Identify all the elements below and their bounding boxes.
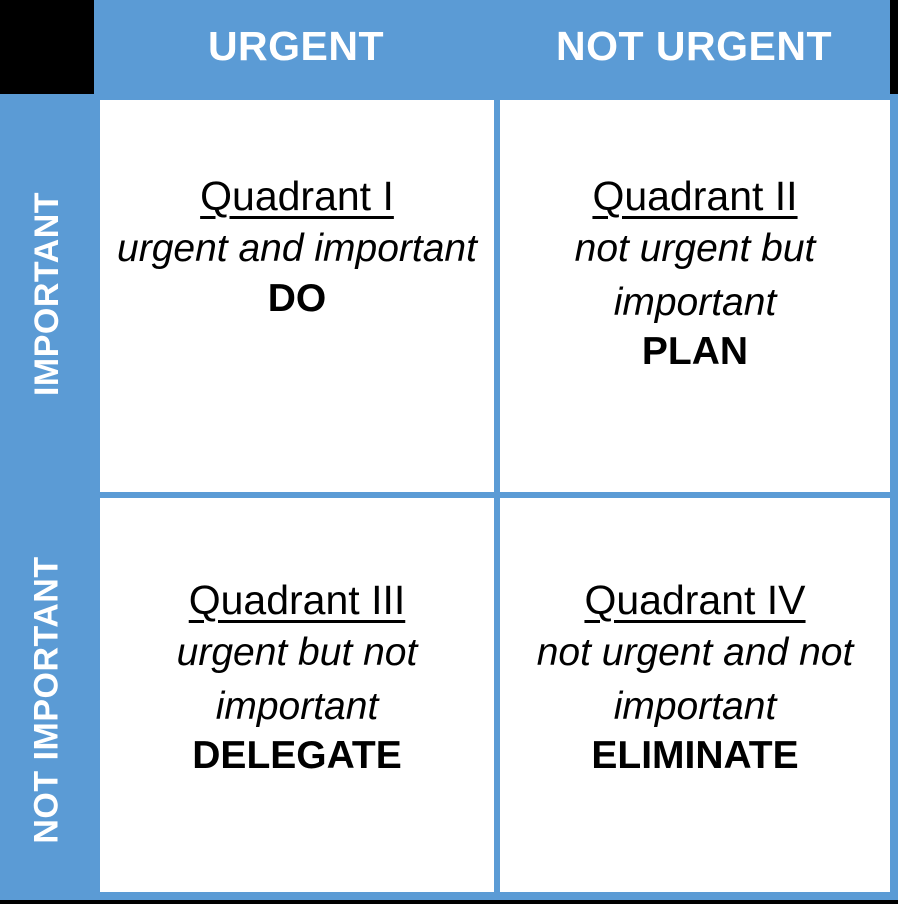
header-right-edge <box>890 0 898 94</box>
quadrant-4-description: not urgent and not important <box>510 626 881 732</box>
column-header-row: URGENT NOT URGENT <box>94 0 890 94</box>
corner-block <box>0 0 94 94</box>
quadrant-3-description: urgent but not important <box>110 626 484 732</box>
quadrant-2-description: not urgent but important <box>510 222 881 328</box>
quadrant-grid: Quadrant I urgent and important DO Quadr… <box>94 94 898 900</box>
quadrant-3-action: DELEGATE <box>192 733 401 780</box>
column-header-urgent-label: URGENT <box>208 26 384 67</box>
quadrant-3-cell[interactable]: Quadrant III urgent but not important DE… <box>100 498 494 894</box>
column-header-not-urgent: NOT URGENT <box>498 0 890 94</box>
quadrant-1-action: DO <box>268 276 327 323</box>
quadrant-2-cell[interactable]: Quadrant II not urgent but important PLA… <box>500 100 890 492</box>
quadrant-3-title: Quadrant III <box>189 574 406 626</box>
row-header-column: IMPORTANT NOT IMPORTANT <box>0 94 94 900</box>
row-header-not-important: NOT IMPORTANT <box>0 499 94 900</box>
row-header-important-label: IMPORTANT <box>30 191 64 395</box>
row-header-not-important-label: NOT IMPORTANT <box>30 556 64 843</box>
eisenhower-matrix: URGENT NOT URGENT IMPORTANT NOT IMPORTAN… <box>0 0 898 904</box>
quadrant-2-action: PLAN <box>642 329 748 376</box>
column-header-not-urgent-label: NOT URGENT <box>556 26 832 67</box>
row-header-important: IMPORTANT <box>0 94 94 493</box>
bottom-frame-strip <box>0 900 898 904</box>
quadrant-4-title: Quadrant IV <box>584 574 805 626</box>
bottom-rail <box>0 892 898 900</box>
quadrant-4-cell[interactable]: Quadrant IV not urgent and not important… <box>500 498 890 894</box>
quadrant-1-description: urgent and important <box>117 222 477 275</box>
column-header-urgent: URGENT <box>94 0 498 94</box>
quadrant-1-title: Quadrant I <box>200 170 394 222</box>
quadrant-2-title: Quadrant II <box>592 170 797 222</box>
quadrant-1-cell[interactable]: Quadrant I urgent and important DO <box>100 100 494 492</box>
quadrant-4-action: ELIMINATE <box>591 733 798 780</box>
